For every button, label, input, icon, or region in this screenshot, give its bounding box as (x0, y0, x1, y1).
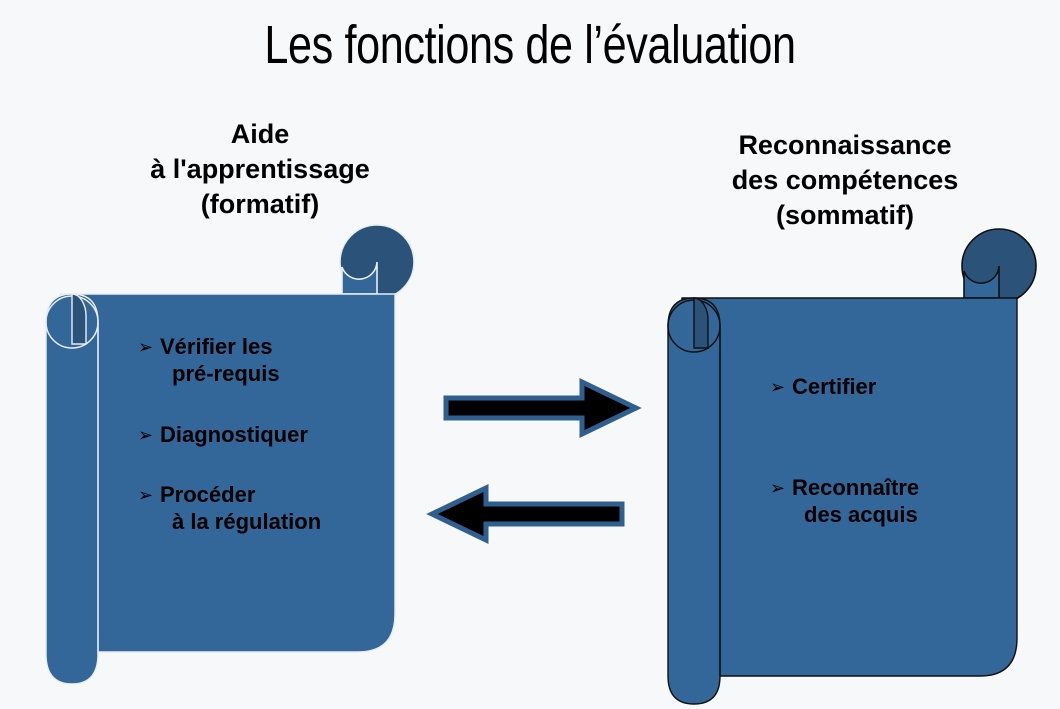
left-scroll-left-roll (46, 294, 98, 684)
right-scroll-bullet-list: ➢ Certifier ➢ Reconnaître des acquis (770, 374, 1030, 528)
right-scroll-left-roll (668, 298, 720, 704)
left-heading-line-1: Aide (60, 117, 460, 152)
arrow-right-to-left (428, 484, 626, 544)
left-scroll-top-right-curl (340, 225, 414, 299)
left-heading-line-3: (formatif) (60, 187, 460, 222)
bullet-arrow-icon: ➢ (138, 423, 153, 447)
bullet-arrow-icon: ➢ (138, 335, 153, 359)
bullet-text-line-2: des acquis (792, 502, 1030, 529)
list-item: ➢ Reconnaître des acquis (770, 475, 1030, 529)
bullet-arrow-icon: ➢ (770, 476, 785, 500)
right-scroll-top-right-curl (962, 229, 1036, 303)
right-panel-heading: Reconnaissance des compétences (sommatif… (645, 128, 1045, 233)
bullet-text-line-1: Procéder (160, 482, 255, 507)
right-heading-line-1: Reconnaissance (645, 128, 1045, 163)
bullet-text-line-1: Certifier (792, 374, 876, 399)
bullet-arrow-icon: ➢ (770, 375, 785, 399)
bullet-text-line-1: Vérifier les (160, 334, 273, 359)
right-scroll-panel: ➢ Certifier ➢ Reconnaître des acquis (660, 226, 1042, 704)
page-title: Les fonctions de l’évaluation (106, 16, 954, 74)
bullet-text-line-1: Diagnostiquer (160, 422, 308, 447)
bullet-text-line-1: Reconnaître (792, 475, 919, 500)
left-scroll-panel: ➢ Vérifier les pré-requis ➢ Diagnostique… (38, 222, 418, 697)
list-item: ➢ Vérifier les pré-requis (138, 334, 408, 388)
left-scroll-bullet-list: ➢ Vérifier les pré-requis ➢ Diagnostique… (138, 334, 408, 536)
left-heading-line-2: à l'apprentissage (60, 152, 460, 187)
list-item: ➢ Certifier (770, 374, 1030, 401)
right-heading-line-2: des compétences (645, 163, 1045, 198)
diagram-canvas: Les fonctions de l’évaluation Aide à l'a… (0, 0, 1060, 709)
bullet-text-line-2: pré-requis (160, 361, 408, 388)
list-item: ➢ Procéder à la régulation (138, 482, 408, 536)
bullet-arrow-icon: ➢ (138, 483, 153, 507)
arrow-left-to-right (442, 378, 640, 438)
arrow-right-icon (446, 382, 636, 434)
arrow-left-icon (432, 488, 622, 540)
left-panel-heading: Aide à l'apprentissage (formatif) (60, 117, 460, 222)
bullet-text-line-2: à la régulation (160, 509, 408, 536)
list-item: ➢ Diagnostiquer (138, 422, 408, 449)
